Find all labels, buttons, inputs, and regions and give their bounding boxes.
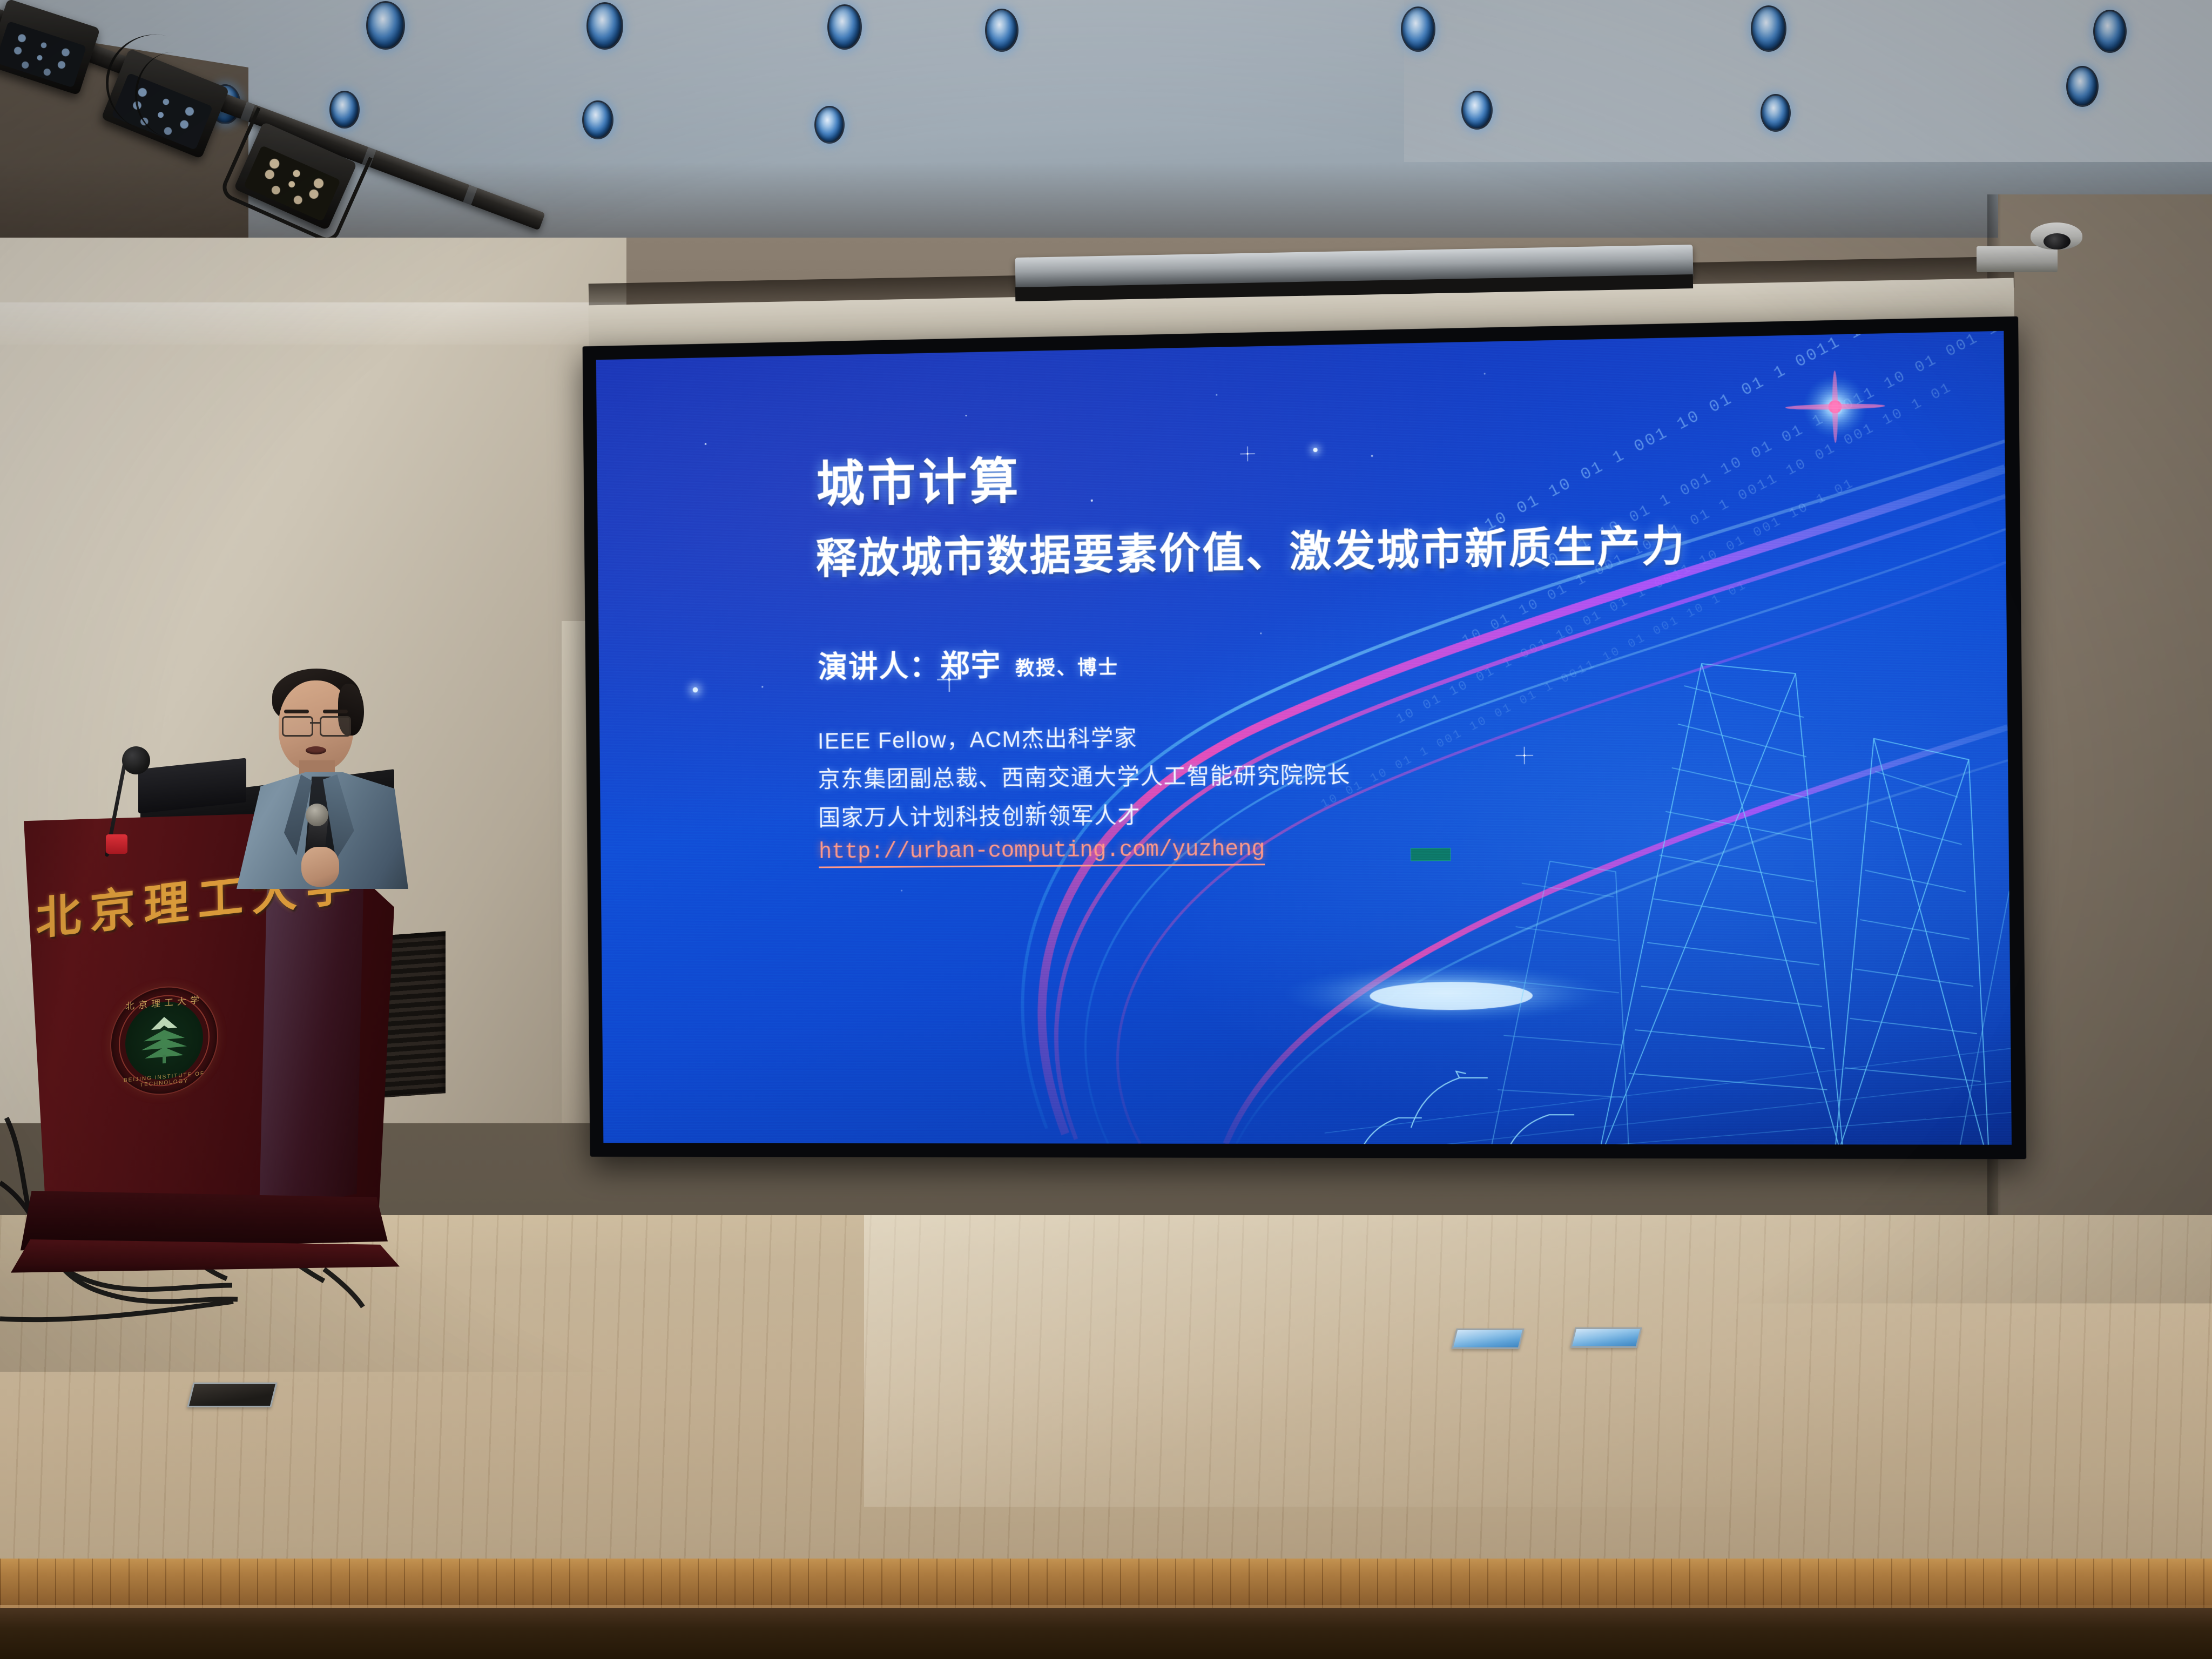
speaker-hand: [301, 847, 339, 887]
downlight-icon: [582, 100, 613, 139]
downlight-icon: [586, 2, 623, 50]
speaker-glasses: [282, 716, 351, 734]
downlight-icon: [985, 9, 1019, 52]
speaker-person: [232, 660, 410, 887]
dome-camera-icon: [2031, 222, 2082, 249]
podium-indicator: [106, 834, 127, 854]
stage-apron-shadow: [0, 1608, 2212, 1659]
floor-box-icon: [1570, 1327, 1642, 1348]
wall-upper-band: [0, 302, 626, 345]
downlight-icon: [2093, 10, 2127, 53]
back-wall-right: [1998, 194, 2212, 1247]
university-emblem: 北京理工大学 BEIJING INSTITUTE OF TECHNOLOGY: [110, 982, 218, 1099]
power-cable: [135, 52, 213, 138]
downlight-icon: [329, 91, 360, 129]
speaker-mouth: [306, 746, 326, 754]
downlight-icon: [2066, 66, 2099, 107]
downlight-icon: [366, 1, 405, 50]
downlight-icon: [1751, 5, 1786, 52]
led-scanline-overlay: [596, 331, 2012, 1145]
downlight-icon: [1401, 6, 1435, 52]
microphone-head-icon: [122, 746, 150, 774]
downlight-icon: [1461, 91, 1493, 130]
lecture-hall-photo: 10 01 10 01 1 001 10 01 01 1 0011 10 01 …: [0, 0, 2212, 1659]
projector-mount: [1977, 246, 2058, 272]
downlight-icon: [1761, 94, 1791, 132]
led-screen: 10 01 10 01 1 001 10 01 01 1 0011 10 01 …: [596, 331, 2012, 1145]
stage-floor-sheen: [864, 1215, 2212, 1507]
speaker-brow: [323, 710, 348, 713]
downlight-icon: [827, 4, 862, 50]
podium-foot: [11, 1239, 400, 1277]
emblem-pine-dove-icon: [135, 1011, 193, 1068]
led-screen-bezel: 10 01 10 01 1 001 10 01 01 1 0011 10 01 …: [583, 316, 2027, 1159]
floor-box-icon: [1451, 1328, 1524, 1349]
downlight-icon: [814, 106, 845, 144]
speaker-brow: [284, 710, 309, 713]
